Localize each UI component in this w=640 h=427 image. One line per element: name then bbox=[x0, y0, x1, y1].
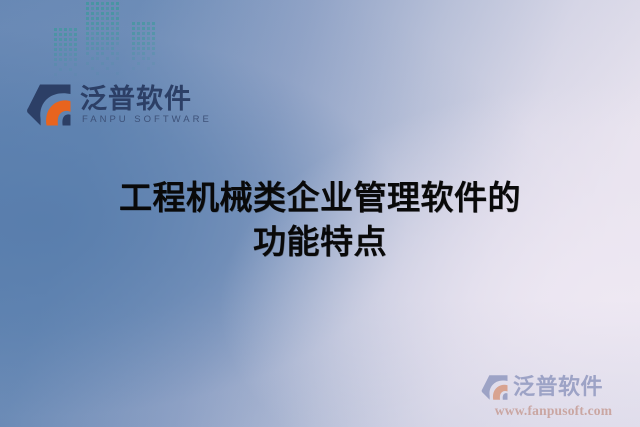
watermark-url: www.fanpusoft.com bbox=[481, 403, 626, 419]
fanpu-logo-mark-icon bbox=[26, 83, 73, 127]
fanpu-logo-mark-icon bbox=[481, 374, 509, 401]
watermark: 泛普软件 www.fanpusoft.com bbox=[481, 374, 626, 419]
brand-name-en: FANPU SOFTWARE bbox=[80, 114, 212, 126]
pixel-bar-columns-decoration bbox=[50, 0, 168, 82]
watermark-name-cn: 泛普软件 bbox=[513, 376, 603, 400]
banner-canvas: 泛普软件 FANPU SOFTWARE 工程机械类企业管理软件的 功能特点 泛普… bbox=[0, 0, 640, 427]
brand-name-cn: 泛普软件 bbox=[80, 85, 212, 114]
watermark-logo-row: 泛普软件 bbox=[481, 374, 626, 401]
page-title: 工程机械类企业管理软件的 功能特点 bbox=[0, 176, 640, 264]
brand-logo: 泛普软件 FANPU SOFTWARE bbox=[26, 83, 212, 127]
brand-wordmark: 泛普软件 FANPU SOFTWARE bbox=[80, 84, 212, 126]
